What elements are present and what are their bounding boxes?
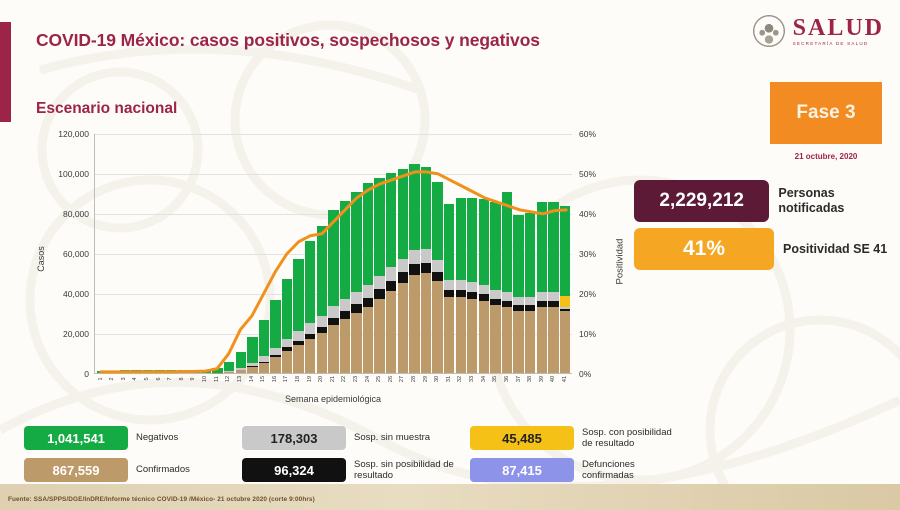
bar-segment [490,290,500,299]
bar-segment [456,280,466,290]
accent-bar [0,22,11,122]
bar-column [537,134,547,373]
x-tick: 41 [562,374,568,384]
bar-segment [236,370,246,373]
bar-column [351,134,361,373]
y-tick-secondary: 50% [579,169,596,179]
bar-column [560,134,570,373]
bar-segment [513,311,523,373]
bar-segment [351,304,361,313]
bar-segment [467,198,477,282]
bar-segment [97,371,107,373]
bar-segment [282,279,292,339]
bar-segment [467,292,477,299]
x-tick: 1 [98,374,104,384]
plot-area: 020,00040,00060,00080,000100,000120,000 … [94,134,572,374]
bar-segment [537,307,547,373]
bar-segment [340,319,350,373]
bar-segment [340,299,350,311]
bar-column [363,134,373,373]
bar-segment [328,318,338,325]
bar-column [525,134,535,373]
bar-segment [166,370,176,373]
x-tick: 30 [434,374,440,384]
bar-segment [479,285,489,294]
bar-column [317,134,327,373]
bar-column [386,134,396,373]
bar-column [467,134,477,373]
legend-value: 1,041,541 [24,426,128,450]
y-tick-secondary: 0% [579,369,591,379]
legend-item-sosp-con-posibilidad: 45,485Sosp. con posibilidad de resultado [470,424,684,452]
bar-segment [386,291,396,373]
bar-column [305,134,315,373]
y-tick-secondary: 60% [579,129,596,139]
legend-label: Sosp. con posibilidad de resultado [582,427,684,450]
x-tick: 29 [423,374,429,384]
x-tick: 18 [295,374,301,384]
bar-segment [456,297,466,373]
bar-column [456,134,466,373]
x-tick: 5 [144,374,150,384]
bar-segment [444,297,454,373]
bar-segment [108,371,118,373]
x-tick: 39 [539,374,545,384]
x-tick: 34 [481,374,487,384]
bar-segment [432,260,442,272]
y-tick-secondary: 30% [579,249,596,259]
bar-column [421,134,431,373]
bar-segment [537,202,547,292]
x-tick: 16 [272,374,278,384]
legend-value: 45,485 [470,426,574,450]
x-tick: 37 [516,374,522,384]
bar-segment [432,281,442,373]
x-tick: 2 [109,374,115,384]
bar-column [270,134,280,373]
bar-segment [270,300,280,348]
bar-segment [525,297,535,305]
y-tick-secondary: 20% [579,289,596,299]
y-tick-primary: 100,000 [58,169,89,179]
fase-badge: Fase 3 [770,82,882,144]
bar-segment [525,311,535,373]
bar-segment [328,306,338,318]
bar-column [189,134,199,373]
epidemic-curve-chart: Casos Positividad 020,00040,00060,00080,… [22,126,632,411]
x-tick: 36 [504,374,510,384]
bar-column [178,134,188,373]
legend-item-confirmados: 867,559Confirmados [24,456,242,484]
bar-segment [432,272,442,281]
bar-segment [374,178,384,276]
legend-label: Sosp. sin posibilidad de resultado [354,459,470,482]
x-tick: 24 [365,374,371,384]
x-tick: 23 [353,374,359,384]
x-tick: 38 [527,374,533,384]
bar-segment [479,294,489,301]
y-tick-primary: 60,000 [63,249,89,259]
bar-column [97,134,107,373]
bar-column [247,134,257,373]
salud-logo-text: SALUD [793,16,884,40]
bar-column [432,134,442,373]
bar-segment [502,292,512,301]
x-tick: 21 [330,374,336,384]
bar-segment [490,202,500,290]
bar-segment [548,307,558,373]
bar-segment [224,362,234,371]
bar-column [131,134,141,373]
source-note: Fuente: SSA/SPPS/DGE/InDRE/Informe técni… [8,496,315,503]
bar-column [108,134,118,373]
salud-logo-subtext: SECRETARÍA DE SALUD [793,42,884,47]
x-tick: 4 [133,374,139,384]
slide-canvas: COVID-19 México: casos positivos, sospec… [0,0,900,510]
bar-segment [317,226,327,316]
bar-segment [131,370,141,373]
bar-segment [363,183,373,285]
bar-segment [328,210,338,306]
bar-segment [340,201,350,299]
legend-value: 87,415 [470,458,574,482]
bar-segment [444,290,454,297]
bar-segment [270,348,280,355]
y-tick-secondary: 40% [579,209,596,219]
x-tick: 25 [376,374,382,384]
bar-segment [421,167,431,249]
bar-segment [270,357,280,373]
bar-segment [374,299,384,373]
bar-segment [502,307,512,373]
bar-column [120,134,130,373]
bar-segment [444,280,454,290]
bar-segment [444,204,454,280]
legend-item-defunciones: 87,415Defunciones confirmadas [470,456,684,484]
bar-segment [351,313,361,373]
bar-segment [409,250,419,264]
bar-column [502,134,512,373]
legend-label: Sosp. sin muestra [354,432,430,443]
x-tick: 11 [214,374,220,384]
page-title: COVID-19 México: casos positivos, sospec… [36,30,540,51]
x-tick: 26 [388,374,394,384]
stat-value: 41% [634,228,774,270]
bar-column [259,134,269,373]
section-subtitle: Escenario nacional [36,100,177,118]
bar-column [490,134,500,373]
bar-segment [374,289,384,299]
x-tick: 27 [400,374,406,384]
bar-column [236,134,246,373]
y-axis-label-secondary: Positividad [614,239,625,285]
stat-value: 2,229,212 [634,180,769,222]
legend-item-sosp-sin-posibilidad: 96,324Sosp. sin posibilidad de resultado [242,456,470,484]
bar-segment [456,290,466,297]
bar-segment [201,370,211,373]
bar-segment [305,323,315,333]
bar-segment [409,164,419,250]
x-tick: 31 [446,374,452,384]
y-tick-primary: 20,000 [63,329,89,339]
x-tick: 17 [284,374,290,384]
bar-segment [317,316,327,327]
bar-segment [513,215,523,297]
bar-segment [305,339,315,373]
bar-segment [351,292,361,305]
bar-segment [398,272,408,283]
bar-segment [398,283,408,373]
bar-segment [328,325,338,373]
bar-segment [340,311,350,319]
bar-segment [259,363,269,373]
x-tick: 40 [551,374,557,384]
bar-column [328,134,338,373]
bar-segment [259,320,269,356]
bar-segment [363,285,373,298]
legend-value: 867,559 [24,458,128,482]
legend-label: Defunciones confirmadas [582,459,684,482]
bar-segment [479,301,489,373]
x-tick: 22 [342,374,348,384]
x-tick: 3 [121,374,127,384]
legend-label: Confirmados [136,464,190,475]
bar-segment [409,264,419,275]
bar-column [154,134,164,373]
bar-segment [282,339,292,347]
bar-segment [386,173,396,267]
bar-segment [363,298,373,307]
bar-column [282,134,292,373]
x-tick: 19 [307,374,313,384]
y-tick-primary: 0 [84,369,89,379]
bar-segment [120,370,130,373]
bar-column [340,134,350,373]
stat-label: Personas notificadas [778,186,900,216]
x-tick: 9 [191,374,197,384]
bar-column [293,134,303,373]
bar-segment [560,311,570,373]
bar-segment [560,296,570,306]
y-tick-primary: 40,000 [63,289,89,299]
bar-segment [456,198,466,280]
bar-column [166,134,176,373]
y-tick-secondary: 10% [579,329,596,339]
bar-column [143,134,153,373]
bar-segment [490,305,500,373]
x-tick: 14 [249,374,255,384]
x-tick: 13 [237,374,243,384]
y-tick-primary: 80,000 [63,209,89,219]
bar-segment [317,333,327,373]
bar-segment [513,297,523,305]
bar-column [212,134,222,373]
bar-segment [178,370,188,373]
bar-column [201,134,211,373]
bar-segment [305,241,315,323]
x-tick: 15 [260,374,266,384]
eagle-seal-icon [752,14,786,48]
bar-segment [432,182,442,260]
bar-segment [363,307,373,373]
bar-segment [548,292,558,301]
bar-segment [374,276,384,289]
x-tick: 32 [458,374,464,384]
legend-item-negativos: 1,041,541Negativos [24,424,242,452]
bar-segment [398,169,408,259]
x-tick: 10 [202,374,208,384]
x-axis-label: Semana epidemiológica [94,394,572,404]
report-date: 21 octubre, 2020 [770,152,882,161]
bar-column [513,134,523,373]
x-tick: 8 [179,374,185,384]
legend-label: Negativos [136,432,178,443]
bar-segment [293,259,303,331]
bar-segment [525,213,535,297]
x-tick: 28 [411,374,417,384]
bar-segment [421,273,431,373]
bar-column [444,134,454,373]
bar-column [409,134,419,373]
x-tick: 20 [318,374,324,384]
bar-segment [247,367,257,373]
bar-segment [351,192,361,292]
stat-label: Positividad SE 41 [783,242,887,257]
bar-segment [479,199,489,285]
legend-value: 96,324 [242,458,346,482]
x-tick: 35 [493,374,499,384]
x-tick: 6 [156,374,162,384]
bar-column [479,134,489,373]
bar-segment [548,202,558,292]
bar-segment [386,267,396,281]
bar-segment [467,282,477,292]
bar-segment [293,345,303,373]
bar-segment [502,192,512,292]
bar-segment [421,263,431,273]
stat-positividad: 41% Positividad SE 41 [634,228,887,270]
bar-segment [398,259,408,273]
bar-segment [143,370,153,373]
bar-segment [293,331,303,341]
bar-segment [409,275,419,373]
bar-column [374,134,384,373]
bar-segment [560,206,570,296]
bar-segment [236,352,246,368]
bar-segment [189,370,199,373]
x-tick: 12 [226,374,232,384]
y-axis-label-primary: Casos [36,246,46,272]
x-axis-ticks: 1234567891011121314151617181920212223242… [94,376,572,382]
bar-segment [247,337,257,363]
bar-column [224,134,234,373]
y-tick-primary: 120,000 [58,129,89,139]
x-tick: 7 [167,374,173,384]
stat-personas-notificadas: 2,229,212 Personas notificadas [634,180,900,222]
salud-wordmark: SALUD SECRETARÍA DE SALUD [793,16,884,47]
stacked-bars [95,134,572,373]
bar-segment [282,351,292,373]
legend-value: 178,303 [242,426,346,450]
bar-column [548,134,558,373]
bar-segment [537,292,547,301]
salud-logo: SALUD SECRETARÍA DE SALUD [752,14,884,48]
bar-column [398,134,408,373]
bar-segment [386,281,396,291]
x-tick: 33 [469,374,475,384]
bar-segment [467,299,477,373]
legend-item-sosp-sin-muestra: 178,303Sosp. sin muestra [242,424,470,452]
bar-segment [154,370,164,373]
legend: 1,041,541Negativos178,303Sosp. sin muest… [24,424,684,484]
bar-segment [421,249,431,263]
